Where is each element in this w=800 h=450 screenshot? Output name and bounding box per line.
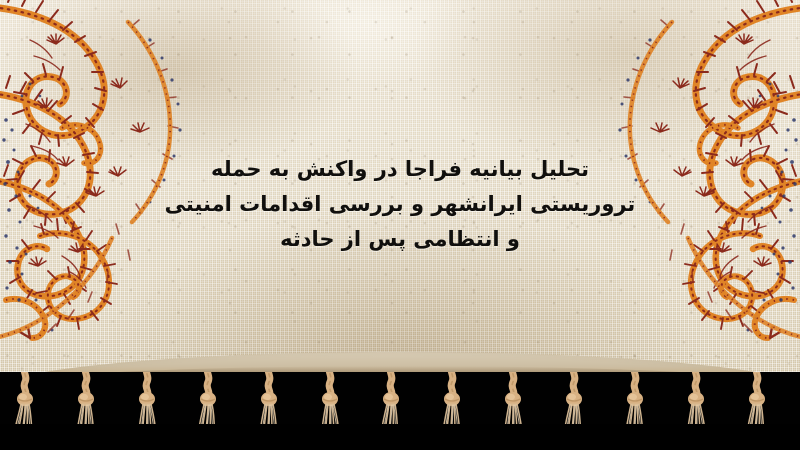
image-canvas: تحلیل بیانیه فراجا در واکنش به حمله ترور… <box>0 0 800 450</box>
title-line-2: تروریستی ایرانشهر و بررسی اقدامات امنیتی <box>150 187 650 222</box>
title-block: تحلیل بیانیه فراجا در واکنش به حمله ترور… <box>150 152 650 257</box>
bottom-dark-area <box>0 424 800 450</box>
title-line-3: و انتظامی پس از حادثه <box>150 222 650 257</box>
title-line-1: تحلیل بیانیه فراجا در واکنش به حمله <box>150 152 650 187</box>
